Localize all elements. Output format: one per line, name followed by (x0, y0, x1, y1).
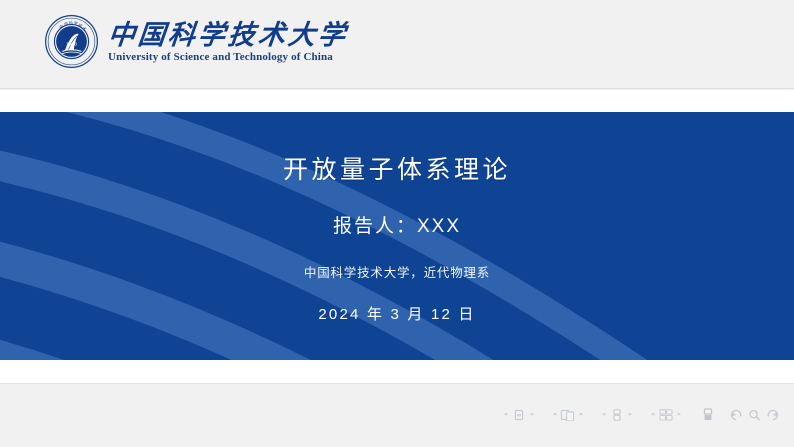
single-page-view-control[interactable]: ◂ ▸ (499, 408, 539, 421)
two-page-view-control[interactable]: ◂ ▸ (548, 408, 588, 421)
chevron-right-icon[interactable]: ▸ (529, 409, 536, 421)
slide-date: 2024 年 3 月 12 日 (318, 303, 475, 324)
logo-wordmark: 中国科学技术大学 University of Science and Techn… (108, 20, 348, 63)
two-page-icon[interactable] (560, 408, 576, 421)
rotate-left-icon[interactable] (728, 408, 744, 421)
title-slide: 开放量子体系理论 报告人：XXX 中国科学技术大学，近代物理系 2024 年 3… (0, 112, 794, 360)
chevron-right-icon[interactable]: ▸ (627, 409, 634, 421)
fit-page-button[interactable] (695, 408, 721, 421)
continuous-page-icon[interactable] (609, 408, 625, 421)
slide-text-block: 开放量子体系理论 报告人：XXX 中国科学技术大学，近代物理系 2024 年 3… (0, 112, 794, 360)
document-page[interactable]: 开放量子体系理论 报告人：XXX 中国科学技术大学，近代物理系 2024 年 3… (0, 90, 794, 384)
university-name-cn: 中国科学技术大学 (107, 22, 350, 50)
ustc-seal-icon: 1958 中 国 科 学 技 术 (44, 14, 99, 69)
chevron-left-icon[interactable]: ◂ (649, 409, 656, 421)
zoom-rotate-group (721, 408, 780, 421)
single-page-icon[interactable] (511, 408, 527, 421)
magnifier-icon[interactable] (746, 408, 762, 421)
seal-year-label: 1958 (66, 41, 77, 47)
document-header-band: 1958 中 国 科 学 技 术 中国科学技术大学 University of … (0, 0, 794, 89)
chevron-right-icon[interactable]: ▸ (578, 409, 585, 421)
svg-text:学: 学 (74, 20, 79, 25)
chevron-right-icon[interactable]: ▸ (676, 409, 683, 421)
viewer-bottom-bar: ◂ ▸ ◂ ▸ (0, 385, 794, 447)
university-name-en: University of Science and Technology of … (108, 51, 348, 63)
document-viewer: 1958 中 国 科 学 技 术 中国科学技术大学 University of … (0, 0, 794, 447)
slide-affiliation: 中国科学技术大学，近代物理系 (304, 262, 490, 281)
svg-text:科: 科 (69, 20, 74, 26)
rotate-right-icon[interactable] (764, 408, 780, 421)
chevron-left-icon[interactable]: ◂ (600, 409, 607, 421)
slide-title: 开放量子体系理论 (283, 150, 511, 186)
chevron-left-icon[interactable]: ◂ (502, 409, 509, 421)
fit-page-icon[interactable] (700, 408, 716, 421)
university-logo: 1958 中 国 科 学 技 术 中国科学技术大学 University of … (44, 14, 348, 69)
page-view-toolbar: ◂ ▸ ◂ ▸ (499, 408, 780, 421)
facing-scroll-view-control[interactable]: ◂ ▸ (646, 408, 686, 421)
continuous-scroll-view-control[interactable]: ◂ ▸ (597, 408, 637, 421)
facing-page-icon[interactable] (658, 408, 674, 421)
slide-presenter: 报告人：XXX (333, 211, 461, 238)
chevron-left-icon[interactable]: ◂ (551, 409, 558, 421)
